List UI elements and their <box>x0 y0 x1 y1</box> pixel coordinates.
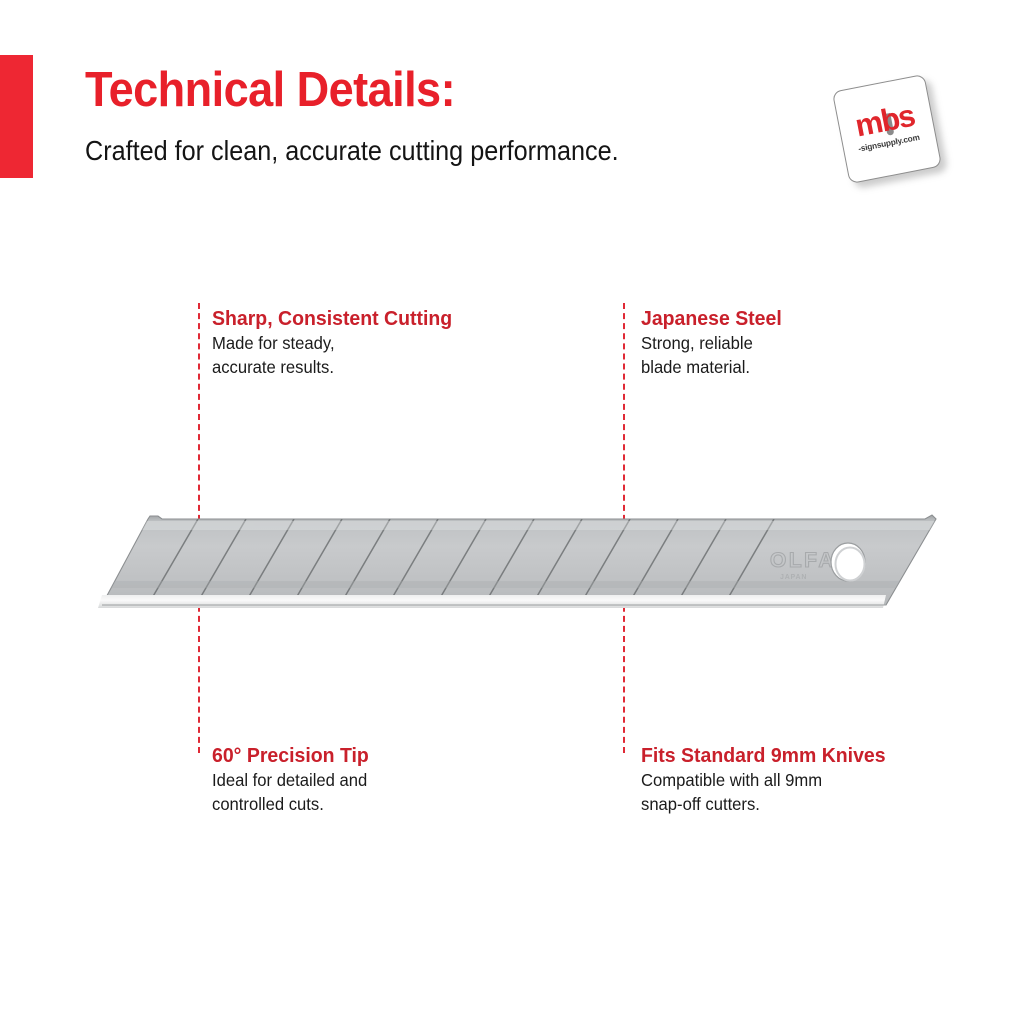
callout-line-2: accurate results. <box>212 355 452 379</box>
callout-precision-tip: 60° Precision Tip Ideal for detailed and… <box>212 745 377 816</box>
product-image-blade: OLFA JAPAN <box>80 495 950 630</box>
callout-line-1: Strong, reliable <box>641 331 782 355</box>
brand-logo[interactable]: mbs -signsupply.com <box>836 80 940 184</box>
page-title: Technical Details: <box>85 66 455 115</box>
logo-content: mbs -signsupply.com <box>832 74 940 182</box>
callout-line-1: Ideal for detailed and <box>212 768 369 792</box>
svg-text:OLFA: OLFA <box>770 549 836 572</box>
callout-fits-knives: Fits Standard 9mm Knives Compatible with… <box>641 745 898 816</box>
callout-line-2: snap-off cutters. <box>641 792 886 816</box>
blade-cutting-edge <box>80 593 950 609</box>
svg-text:JAPAN: JAPAN <box>780 574 807 581</box>
page-subtitle: Crafted for clean, accurate cutting perf… <box>85 136 619 167</box>
callout-line-1: Compatible with all 9mm <box>641 768 886 792</box>
infographic-canvas: Technical Details: Crafted for clean, ac… <box>0 0 1024 1024</box>
callout-line-2: blade material. <box>641 355 782 379</box>
callout-japanese-steel: Japanese Steel Strong, reliable blade ma… <box>641 308 789 379</box>
callout-sharp-cutting: Sharp, Consistent Cutting Made for stead… <box>212 308 465 379</box>
callout-title: Fits Standard 9mm Knives <box>641 745 886 768</box>
callout-title: Sharp, Consistent Cutting <box>212 308 452 331</box>
callout-title: 60° Precision Tip <box>212 745 369 768</box>
callout-line-2: controlled cuts. <box>212 792 369 816</box>
callout-line-1: Made for steady, <box>212 331 452 355</box>
header-accent-bar <box>0 55 33 178</box>
callout-title: Japanese Steel <box>641 308 782 331</box>
